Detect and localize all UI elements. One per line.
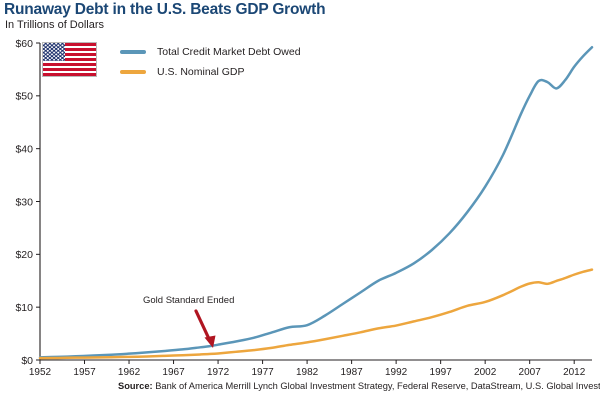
data-series <box>40 47 592 358</box>
series-line <box>40 270 592 358</box>
y-tick-label: $10 <box>15 302 33 314</box>
source-note: Source: Bank of America Merrill Lynch Gl… <box>118 381 600 391</box>
x-tick-label: 1967 <box>162 367 185 378</box>
x-tick-label: 1962 <box>118 367 141 378</box>
x-tick-label: 1997 <box>430 367 453 378</box>
x-tick-label: 2012 <box>563 367 586 378</box>
plot-area: $0$10$20$30$40$50$60 1952195719621967197… <box>0 0 600 400</box>
x-tick-label: 1972 <box>207 367 230 378</box>
y-axis: $0$10$20$30$40$50$60 <box>15 38 40 367</box>
source-prefix: Source: <box>118 381 153 391</box>
x-tick-label: 1957 <box>73 367 96 378</box>
y-tick-label: $40 <box>15 143 33 155</box>
y-tick-label: $30 <box>15 196 33 208</box>
annotation-label: Gold Standard Ended <box>143 295 234 306</box>
x-tick-label: 1952 <box>29 367 52 378</box>
y-tick-label: $60 <box>15 38 33 50</box>
x-tick-label: 1982 <box>296 367 319 378</box>
y-tick-label: $50 <box>15 91 33 103</box>
x-tick-label: 1987 <box>340 367 363 378</box>
y-tick-label: $20 <box>15 249 33 261</box>
annotation-arrow <box>196 311 216 348</box>
source-text: Bank of America Merrill Lynch Global Inv… <box>153 381 600 391</box>
x-tick-label: 2002 <box>474 367 497 378</box>
chart-svg: $0$10$20$30$40$50$60 1952195719621967197… <box>0 0 600 400</box>
chart-page: Runaway Debt in the U.S. Beats GDP Growt… <box>0 0 600 400</box>
x-axis: 1952195719621967197219771982198719921997… <box>29 360 592 378</box>
x-tick-label: 2007 <box>519 367 542 378</box>
annotation-arrow-shaft <box>196 311 210 341</box>
x-tick-label: 1977 <box>251 367 274 378</box>
series-line <box>40 47 592 357</box>
x-tick-label: 1992 <box>385 367 408 378</box>
y-tick-label: $0 <box>21 355 33 367</box>
